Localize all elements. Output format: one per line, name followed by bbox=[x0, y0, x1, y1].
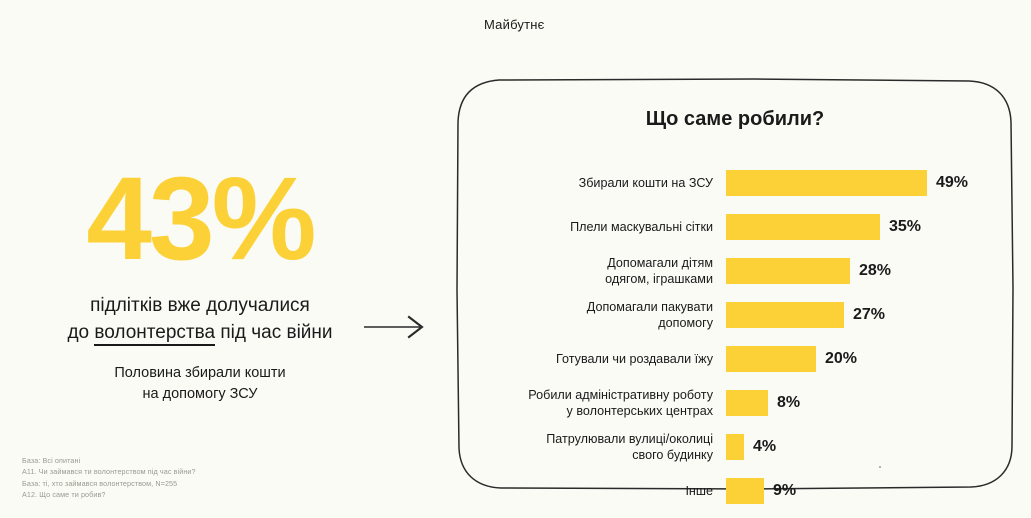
footnote-line: A12. Що саме ти робив? bbox=[22, 489, 196, 500]
subtext-line-1: Половина збирали кошти bbox=[0, 363, 400, 384]
bar-value: 28% bbox=[859, 262, 891, 280]
headline-underlined-term: волонтерства bbox=[94, 322, 215, 346]
bar-value: 35% bbox=[889, 218, 921, 236]
chart-title: Що саме робили? bbox=[455, 108, 1015, 131]
bar-value: 49% bbox=[936, 174, 968, 192]
bar bbox=[726, 214, 880, 240]
bar-value: 9% bbox=[773, 482, 796, 500]
bar-label: Допомагали дітям одягом, іграшками bbox=[455, 255, 726, 287]
chart-row: Збирали кошти на ЗСУ 49% bbox=[455, 166, 1015, 200]
bar-label: Плели маскувальні сітки bbox=[455, 219, 726, 235]
bar-value: 27% bbox=[853, 306, 885, 324]
footnote-line: A11. Чи займався ти волонтерством під ча… bbox=[22, 466, 196, 477]
chart-row: Патрулювали вулиці/околиці свого будинку… bbox=[455, 430, 1015, 464]
decorative-dot bbox=[879, 466, 881, 468]
slide: Майбутнє 43% підлітків вже долучалися до… bbox=[0, 0, 1031, 510]
chart-row: Готували чи роздавали їжу 20% bbox=[455, 342, 1015, 376]
bar-label: Допомагали пакувати допомогу bbox=[455, 299, 726, 331]
big-stat-value: 43% bbox=[0, 160, 400, 278]
section-title: Майбутнє bbox=[484, 17, 545, 32]
bar bbox=[726, 258, 850, 284]
bar-label: Робили адміністративну роботу у волонтер… bbox=[455, 387, 726, 419]
footnotes: База: Всі опитані A11. Чи займався ти во… bbox=[22, 455, 196, 500]
arrow-right-icon bbox=[362, 312, 432, 342]
chart-row: Плели маскувальні сітки 35% bbox=[455, 210, 1015, 244]
subtext: Половина збирали кошти на допомогу ЗСУ bbox=[0, 363, 400, 405]
headline: підлітків вже долучалися до волонтерства… bbox=[0, 292, 400, 346]
headline-suffix: під час війни bbox=[215, 322, 332, 343]
bar bbox=[726, 478, 764, 504]
chart-row: Інше 9% bbox=[455, 474, 1015, 508]
bar-label: Готували чи роздавали їжу bbox=[455, 351, 726, 367]
bar-label: Інше bbox=[455, 483, 726, 499]
bar-label: Збирали кошти на ЗСУ bbox=[455, 175, 726, 191]
chart-card: Що саме робили? Збирали кошти на ЗСУ 49%… bbox=[455, 78, 1015, 490]
chart-row: Допомагали дітям одягом, іграшками 28% bbox=[455, 254, 1015, 288]
footnote-line: База: Всі опитані bbox=[22, 455, 196, 466]
headline-prefix: до bbox=[67, 322, 94, 343]
bar-label: Патрулювали вулиці/околиці свого будинку bbox=[455, 431, 726, 463]
bar-chart: Збирали кошти на ЗСУ 49% Плели маскуваль… bbox=[455, 166, 1015, 518]
bar bbox=[726, 434, 744, 460]
left-panel: 43% підлітків вже долучалися до волонтер… bbox=[0, 0, 450, 510]
bar bbox=[726, 390, 768, 416]
headline-line-1: підлітків вже долучалися bbox=[0, 292, 400, 319]
chart-row: Робили адміністративну роботу у волонтер… bbox=[455, 386, 1015, 420]
footnote-line: База: ті, хто займався волонтерством, N=… bbox=[22, 478, 196, 489]
headline-line-2: до волонтерства під час війни bbox=[0, 319, 400, 346]
bar-value: 20% bbox=[825, 350, 857, 368]
subtext-line-2: на допомогу ЗСУ bbox=[0, 384, 400, 405]
bar-value: 4% bbox=[753, 438, 776, 456]
bar bbox=[726, 302, 844, 328]
bar bbox=[726, 346, 816, 372]
bar-value: 8% bbox=[777, 394, 800, 412]
bar bbox=[726, 170, 927, 196]
chart-row: Допомагали пакувати допомогу 27% bbox=[455, 298, 1015, 332]
